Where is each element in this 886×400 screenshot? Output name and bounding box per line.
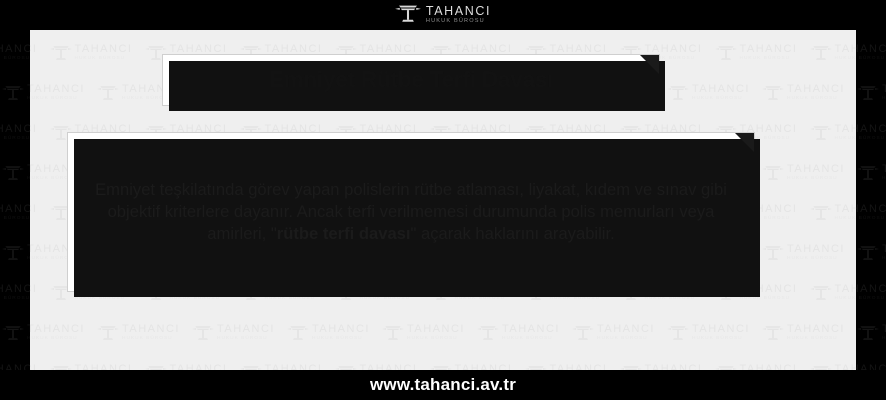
watermark-tile: TAHANCIHUKUK BÜROSU [762, 244, 845, 261]
watermark-tile: TAHANCIHUKUK BÜROSU [30, 84, 85, 101]
folded-corner-icon [735, 133, 754, 152]
watermark-tile: TAHANCIHUKUK BÜROSU [287, 324, 370, 341]
title-card: Emniyet Rütbe Terfi Davası [162, 54, 660, 106]
watermark-tile: TAHANCIHUKUK BÜROSU [810, 284, 857, 301]
watermark-tile: TAHANCIHUKUK BÜROSU [715, 44, 798, 61]
watermark-tile: TAHANCIHUKUK BÜROSU [857, 244, 886, 261]
watermark-tile: TAHANCIHUKUK BÜROSU [810, 44, 857, 61]
watermark-tile: TAHANCIHUKUK BÜROSU [382, 324, 465, 341]
watermark-tile: TAHANCIHUKUK BÜROSU [30, 44, 37, 61]
header-band: TAHANCI HUKUK BÜROSU [0, 0, 886, 30]
body-paragraph: Emniyet teşkilatında görev yapan polisle… [94, 179, 728, 245]
footer-band: www.tahanci.av.tr [0, 370, 886, 400]
website-url[interactable]: www.tahanci.av.tr [370, 375, 516, 395]
watermark-tile: TAHANCIHUKUK BÜROSU [30, 324, 85, 341]
watermark-tile: TAHANCIHUKUK BÜROSU [477, 324, 560, 341]
watermark-tile: TAHANCIHUKUK BÜROSU [192, 324, 275, 341]
watermark-tile: TAHANCIHUKUK BÜROSU [762, 84, 845, 101]
brand-subtitle: HUKUK BÜROSU [426, 19, 485, 25]
watermark-tile: TAHANCIHUKUK BÜROSU [30, 284, 37, 301]
watermark-tile: TAHANCIHUKUK BÜROSU [50, 44, 133, 61]
watermark-tile: TAHANCIHUKUK BÜROSU [762, 164, 845, 181]
watermark-tile: TAHANCIHUKUK BÜROSU [667, 324, 750, 341]
watermark-tile: TAHANCIHUKUK BÜROSU [762, 324, 845, 341]
watermark-tile: TAHANCIHUKUK BÜROSU [30, 204, 37, 221]
watermark-tile: TAHANCIHUKUK BÜROSU [572, 324, 655, 341]
brand-wordmark: TAHANCI HUKUK BÜROSU [426, 5, 491, 25]
watermark-tile: TAHANCIHUKUK BÜROSU [857, 164, 886, 181]
body-card: Emniyet teşkilatında görev yapan polisle… [67, 132, 755, 292]
watermark-tile: TAHANCIHUKUK BÜROSU [810, 124, 857, 141]
watermark-tile: TAHANCIHUKUK BÜROSU [30, 124, 37, 141]
page-title: Emniyet Rütbe Terfi Davası [269, 67, 553, 93]
watermark-tile: TAHANCIHUKUK BÜROSU [857, 84, 886, 101]
watermark-tile: TAHANCIHUKUK BÜROSU [97, 324, 180, 341]
brand-name: TAHANCI [426, 5, 491, 18]
watermark-tile: TAHANCIHUKUK BÜROSU [667, 84, 750, 101]
brand-lockup: TAHANCI HUKUK BÜROSU [395, 3, 491, 28]
column-t-logo-icon [395, 3, 421, 28]
watermark-tile: TAHANCIHUKUK BÜROSU [810, 204, 857, 221]
poster-canvas: TAHANCIHUKUK BÜROSUTAHANCIHUKUK BÜROSUTA… [0, 0, 886, 400]
watermark-tile: TAHANCIHUKUK BÜROSU [857, 324, 886, 341]
folded-corner-icon [640, 55, 659, 74]
